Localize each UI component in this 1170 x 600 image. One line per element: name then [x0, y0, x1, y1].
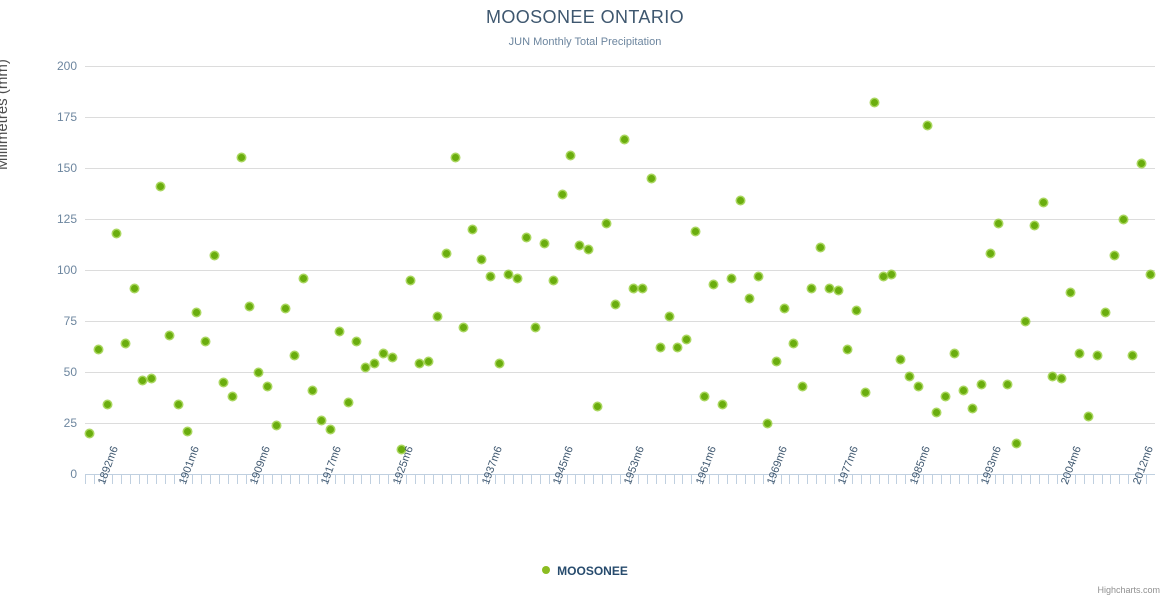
data-point[interactable] — [229, 393, 236, 400]
x-axis-tick — [246, 475, 247, 484]
x-axis-tick — [709, 475, 710, 484]
data-point[interactable] — [1111, 252, 1118, 259]
x-axis-tick — [531, 475, 532, 484]
data-point[interactable] — [701, 393, 708, 400]
data-point[interactable] — [781, 305, 788, 312]
data-point[interactable] — [362, 364, 369, 371]
x-axis-tick — [1093, 475, 1094, 484]
x-axis-tick — [495, 475, 496, 484]
x-axis-tick — [1075, 475, 1076, 484]
data-point[interactable] — [576, 242, 583, 249]
x-axis-tick — [335, 475, 336, 484]
data-point[interactable] — [1120, 216, 1127, 223]
x-axis-tick — [379, 475, 380, 484]
x-axis-tick — [139, 475, 140, 484]
x-axis-tick — [442, 475, 443, 484]
data-point[interactable] — [1076, 350, 1083, 357]
x-axis-tick — [1102, 475, 1103, 484]
data-point[interactable] — [764, 420, 771, 427]
data-point[interactable] — [630, 285, 637, 292]
x-axis-tick — [656, 475, 657, 484]
data-point[interactable] — [532, 324, 539, 331]
data-point[interactable] — [683, 336, 690, 343]
x-axis-tick — [995, 475, 996, 484]
data-point[interactable] — [719, 401, 726, 408]
data-point[interactable] — [1129, 352, 1136, 359]
data-point[interactable] — [1094, 352, 1101, 359]
data-point[interactable] — [139, 377, 146, 384]
data-point[interactable] — [291, 352, 298, 359]
x-axis-tick — [682, 475, 683, 484]
x-axis-tick — [665, 475, 666, 484]
data-point[interactable] — [1013, 440, 1020, 447]
data-point[interactable] — [666, 313, 673, 320]
gridline — [85, 372, 1155, 373]
x-axis-tick — [522, 475, 523, 484]
gridline — [85, 270, 1155, 271]
x-axis-tick — [941, 475, 942, 484]
x-axis-tick — [1084, 475, 1085, 484]
chart-legend[interactable]: MOOSONEE — [0, 563, 1170, 578]
x-axis-tick — [674, 475, 675, 484]
x-axis-tick — [165, 475, 166, 484]
data-point[interactable] — [710, 281, 717, 288]
x-axis-tick — [308, 475, 309, 484]
x-axis-tick — [879, 475, 880, 484]
data-point[interactable] — [496, 360, 503, 367]
data-point[interactable] — [1067, 289, 1074, 296]
data-point[interactable] — [380, 350, 387, 357]
data-point[interactable] — [773, 358, 780, 365]
data-point[interactable] — [826, 285, 833, 292]
gridline — [85, 66, 1155, 67]
x-axis-tick — [807, 475, 808, 484]
x-axis-tick — [317, 475, 318, 484]
x-axis-tick — [932, 475, 933, 484]
x-axis-tick — [415, 475, 416, 484]
x-axis-tick — [754, 475, 755, 484]
data-point[interactable] — [389, 354, 396, 361]
data-point[interactable] — [915, 383, 922, 390]
x-axis-tick — [638, 475, 639, 484]
x-axis-tick — [647, 475, 648, 484]
x-axis-tick — [575, 475, 576, 484]
data-point[interactable] — [336, 328, 343, 335]
data-point[interactable] — [799, 383, 806, 390]
x-axis-tick — [353, 475, 354, 484]
data-point[interactable] — [880, 273, 887, 280]
data-point[interactable] — [978, 381, 985, 388]
credits-watermark[interactable]: Highcharts.com — [1097, 585, 1160, 595]
data-point[interactable] — [211, 252, 218, 259]
x-axis-tick — [299, 475, 300, 484]
data-point[interactable] — [621, 136, 628, 143]
x-axis-tick — [896, 475, 897, 484]
data-point[interactable] — [817, 244, 824, 251]
x-axis-tick — [513, 475, 514, 484]
legend-marker-icon — [542, 566, 550, 574]
data-point[interactable] — [122, 340, 129, 347]
x-axis-tick — [905, 475, 906, 484]
x-axis-tick — [781, 475, 782, 484]
gridline — [85, 168, 1155, 169]
chart-title: MOOSONEE ONTARIO — [0, 7, 1170, 28]
x-axis-tick — [736, 475, 737, 484]
data-point[interactable] — [594, 403, 601, 410]
data-point[interactable] — [514, 275, 521, 282]
legend-item-moosonee[interactable]: MOOSONEE — [557, 564, 628, 578]
x-axis-tick — [798, 475, 799, 484]
data-point[interactable] — [603, 220, 610, 227]
x-axis-tick — [870, 475, 871, 484]
x-axis-tick — [192, 475, 193, 484]
data-point[interactable] — [282, 305, 289, 312]
data-point[interactable] — [505, 271, 512, 278]
y-axis-tick-label: 0 — [17, 467, 77, 481]
x-axis-tick — [852, 475, 853, 484]
x-axis-tick — [147, 475, 148, 484]
x-axis-tick — [611, 475, 612, 484]
data-point[interactable] — [755, 273, 762, 280]
x-axis-tick — [344, 475, 345, 484]
x-axis-tick — [861, 475, 862, 484]
y-axis-tick-label: 100 — [17, 263, 77, 277]
data-point[interactable] — [95, 346, 102, 353]
data-point[interactable] — [728, 275, 735, 282]
x-axis-tick — [620, 475, 621, 484]
x-axis-tick — [789, 475, 790, 484]
x-axis-tick — [959, 475, 960, 484]
data-point[interactable] — [478, 256, 485, 263]
scatter-chart: MOOSONEE ONTARIO JUN Monthly Total Preci… — [0, 0, 1170, 600]
data-point[interactable] — [960, 387, 967, 394]
x-axis-tick — [691, 475, 692, 484]
data-point[interactable] — [871, 99, 878, 106]
data-point[interactable] — [407, 277, 414, 284]
x-axis-tick — [745, 475, 746, 484]
x-axis-tick — [950, 475, 951, 484]
x-axis-tick — [388, 475, 389, 484]
x-axis-tick — [1110, 475, 1111, 484]
y-axis-tick-label: 200 — [17, 59, 77, 73]
x-axis-tick — [1012, 475, 1013, 484]
x-axis-tick — [567, 475, 568, 484]
x-axis-tick — [888, 475, 889, 484]
x-axis-tick — [968, 475, 969, 484]
x-axis-tick — [1128, 475, 1129, 484]
x-axis-tick — [272, 475, 273, 484]
y-axis-tick-label: 50 — [17, 365, 77, 379]
x-axis-tick — [1048, 475, 1049, 484]
data-point[interactable] — [657, 344, 664, 351]
x-axis-tick — [468, 475, 469, 484]
x-axis-tick — [504, 475, 505, 484]
data-point[interactable] — [746, 295, 753, 302]
data-point[interactable] — [942, 393, 949, 400]
chart-subtitle: JUN Monthly Total Precipitation — [0, 36, 1170, 48]
data-point[interactable] — [148, 375, 155, 382]
data-point[interactable] — [692, 228, 699, 235]
x-axis-tick — [451, 475, 452, 484]
x-axis-tick — [825, 475, 826, 484]
data-point[interactable] — [1031, 222, 1038, 229]
x-axis-tick — [174, 475, 175, 484]
x-axis-tick — [85, 475, 86, 484]
data-point[interactable] — [327, 426, 334, 433]
data-point[interactable] — [309, 387, 316, 394]
data-point[interactable] — [550, 277, 557, 284]
x-axis-tick — [477, 475, 478, 484]
x-axis-tick — [281, 475, 282, 484]
data-point[interactable] — [1022, 318, 1029, 325]
data-point[interactable] — [1147, 271, 1154, 278]
data-point[interactable] — [790, 340, 797, 347]
x-axis-tick — [816, 475, 817, 484]
data-point[interactable] — [888, 271, 895, 278]
data-point[interactable] — [425, 358, 432, 365]
data-point[interactable] — [897, 356, 904, 363]
x-axis-tick — [361, 475, 362, 484]
x-axis-tick — [219, 475, 220, 484]
x-axis-tick — [540, 475, 541, 484]
x-axis-tick — [406, 475, 407, 484]
x-axis-tick — [112, 475, 113, 484]
x-axis-tick — [433, 475, 434, 484]
data-point[interactable] — [460, 324, 467, 331]
plot-area — [85, 66, 1155, 474]
x-axis-tick — [584, 475, 585, 484]
data-point[interactable] — [131, 285, 138, 292]
data-point[interactable] — [1040, 199, 1047, 206]
data-point[interactable] — [674, 344, 681, 351]
y-axis-title: Millimetres (mm) — [0, 59, 11, 170]
data-point[interactable] — [906, 373, 913, 380]
x-axis-tick — [977, 475, 978, 484]
x-axis-tick — [1119, 475, 1120, 484]
data-point[interactable] — [1138, 160, 1145, 167]
data-point[interactable] — [175, 401, 182, 408]
x-axis-tick — [210, 475, 211, 484]
data-point[interactable] — [246, 303, 253, 310]
data-point[interactable] — [371, 360, 378, 367]
data-point[interactable] — [86, 430, 93, 437]
data-point[interactable] — [853, 307, 860, 314]
x-axis-tick — [1003, 475, 1004, 484]
data-point[interactable] — [469, 226, 476, 233]
x-axis-tick — [923, 475, 924, 484]
data-point[interactable] — [862, 389, 869, 396]
data-point[interactable] — [951, 350, 958, 357]
x-axis-tick — [1030, 475, 1031, 484]
data-point[interactable] — [452, 154, 459, 161]
data-point[interactable] — [585, 246, 592, 253]
x-axis-tick — [94, 475, 95, 484]
x-axis-tick — [1057, 475, 1058, 484]
x-axis-tick — [593, 475, 594, 484]
x-axis-tick — [1146, 475, 1147, 484]
x-axis-tick — [834, 475, 835, 484]
data-point[interactable] — [612, 301, 619, 308]
data-point[interactable] — [844, 346, 851, 353]
data-point[interactable] — [1102, 309, 1109, 316]
data-point[interactable] — [238, 154, 245, 161]
y-axis-tick-label: 175 — [17, 110, 77, 124]
y-axis-tick-label: 125 — [17, 212, 77, 226]
data-point[interactable] — [933, 409, 940, 416]
x-axis-tick — [263, 475, 264, 484]
data-point[interactable] — [104, 401, 111, 408]
x-axis-tick — [424, 475, 425, 484]
x-axis-tick — [121, 475, 122, 484]
data-point[interactable] — [924, 122, 931, 129]
data-point[interactable] — [639, 285, 646, 292]
data-point[interactable] — [264, 383, 271, 390]
data-point[interactable] — [353, 338, 360, 345]
data-point[interactable] — [157, 183, 164, 190]
data-point[interactable] — [166, 332, 173, 339]
data-point[interactable] — [416, 360, 423, 367]
data-point[interactable] — [487, 273, 494, 280]
data-point[interactable] — [113, 230, 120, 237]
data-point[interactable] — [202, 338, 209, 345]
x-axis-tick — [290, 475, 291, 484]
x-axis-tick — [460, 475, 461, 484]
data-point[interactable] — [523, 234, 530, 241]
gridline — [85, 117, 1155, 118]
data-point[interactable] — [995, 220, 1002, 227]
data-point[interactable] — [300, 275, 307, 282]
data-point[interactable] — [648, 175, 655, 182]
data-point[interactable] — [1085, 413, 1092, 420]
x-axis-tick — [228, 475, 229, 484]
data-point[interactable] — [987, 250, 994, 257]
x-axis-tick — [130, 475, 131, 484]
x-axis-tick — [237, 475, 238, 484]
data-point[interactable] — [184, 428, 191, 435]
x-axis-tick — [727, 475, 728, 484]
data-point[interactable] — [835, 287, 842, 294]
x-axis-tick — [549, 475, 550, 484]
x-axis-tick — [201, 475, 202, 484]
data-point[interactable] — [541, 240, 548, 247]
gridline — [85, 219, 1155, 220]
gridline — [85, 321, 1155, 322]
data-point[interactable] — [434, 313, 441, 320]
data-point[interactable] — [443, 250, 450, 257]
data-point[interactable] — [567, 152, 574, 159]
x-axis-tick — [156, 475, 157, 484]
data-point[interactable] — [969, 405, 976, 412]
y-axis-tick-label: 150 — [17, 161, 77, 175]
data-point[interactable] — [737, 197, 744, 204]
data-point[interactable] — [193, 309, 200, 316]
gridline — [85, 423, 1155, 424]
x-axis-tick — [718, 475, 719, 484]
y-axis-tick-label: 25 — [17, 416, 77, 430]
data-point[interactable] — [273, 422, 280, 429]
x-axis-tick — [1039, 475, 1040, 484]
data-point[interactable] — [345, 399, 352, 406]
data-point[interactable] — [1049, 373, 1056, 380]
data-point[interactable] — [1058, 375, 1065, 382]
data-point[interactable] — [220, 379, 227, 386]
x-axis-tick — [370, 475, 371, 484]
x-axis-tick — [602, 475, 603, 484]
x-axis-tick — [1021, 475, 1022, 484]
data-point[interactable] — [808, 285, 815, 292]
data-point[interactable] — [1004, 381, 1011, 388]
data-point[interactable] — [255, 369, 262, 376]
data-point[interactable] — [559, 191, 566, 198]
x-axis-tick — [763, 475, 764, 484]
y-axis-tick-label: 75 — [17, 314, 77, 328]
